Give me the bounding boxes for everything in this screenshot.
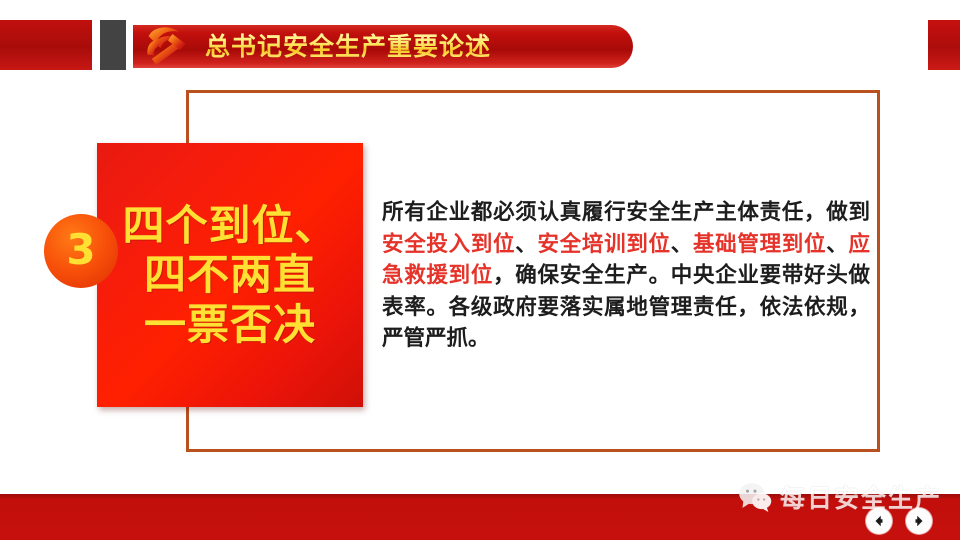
step-number-label: 3: [66, 229, 95, 271]
body-highlight-segment: 安全投入到位: [382, 232, 515, 257]
page-title: 总书记安全生产重要论述: [205, 30, 491, 64]
key-phrase-line-1: 四个到位、: [122, 202, 337, 249]
arrow-left-icon: [872, 514, 886, 528]
header-gray-accent-block: [100, 20, 126, 70]
key-phrase-card: 四个到位、 四不两直 一票否决: [97, 143, 363, 407]
header-right-accent-block: [928, 20, 960, 70]
body-highlight-segment: 安全培训到位: [537, 232, 670, 257]
body-paragraph: 所有企业都必须认真履行安全生产主体责任，做到安全投入到位、安全培训到位、基础管理…: [382, 197, 870, 355]
slide-canvas: 总书记安全生产重要论述 四个到位、 四不两直 一票否决 3 所有企业都必须认真履…: [0, 0, 960, 540]
key-phrase-line-3: 一票否决: [144, 301, 316, 348]
key-phrase-card-text: 四个到位、 四不两直 一票否决: [97, 143, 363, 407]
arrow-right-icon: [912, 514, 926, 528]
body-plain-segment: 、: [515, 232, 537, 257]
body-highlight-segment: 基础管理到位: [693, 232, 826, 257]
body-plain-segment: 、: [826, 232, 848, 257]
prev-slide-button[interactable]: [866, 508, 892, 534]
body-plain-segment: 所有企业都必须认真履行安全生产主体责任，做到: [382, 200, 870, 225]
wechat-icon: [738, 482, 772, 512]
step-number-badge: 3: [44, 214, 118, 288]
body-plain-segment: 、: [671, 232, 693, 257]
slide-navigation: [866, 508, 932, 534]
party-hammer-sickle-emblem-icon: [139, 20, 195, 74]
key-phrase-line-2: 四不两直: [144, 251, 316, 298]
header-left-accent-block: [0, 20, 92, 70]
next-slide-button[interactable]: [906, 508, 932, 534]
